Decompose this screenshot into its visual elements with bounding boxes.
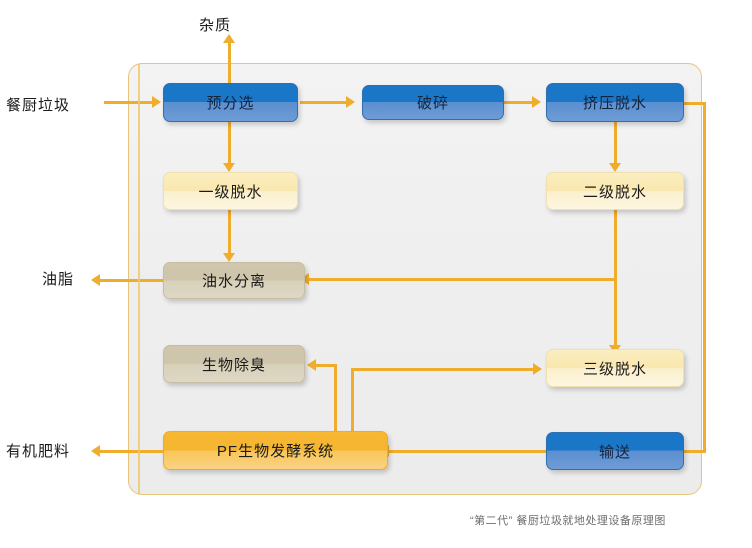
arrowhead-into-squeeze-dewater — [532, 96, 541, 108]
connector-pre-sorting-to-crushing — [300, 101, 348, 104]
arrowhead-into-impurities — [223, 34, 235, 43]
connector-into-conveying-right — [684, 450, 706, 453]
arrowhead-into-tertiary-dewater-left — [533, 363, 542, 375]
connector-pf-fermentation-to-organic-fertilizer — [99, 450, 165, 453]
connector-pf-fermentation-to-tertiary-dewater — [351, 368, 536, 371]
node-pre-sorting-label: 预分选 — [206, 92, 254, 113]
node-pf-fermentation[interactable]: PF生物发酵系统 — [163, 431, 388, 470]
connector-conveying-to-pf-fermentation — [388, 450, 548, 453]
connector-pf-fermentation-to-tertiary-dewater-riser — [351, 368, 354, 432]
arrowhead-into-organic-fertilizer — [91, 445, 100, 457]
node-conveying-label: 输送 — [599, 441, 631, 462]
connector-secondary-dewater-to-oil-water-separate — [308, 278, 616, 281]
node-squeeze-dewater-label: 挤压脱水 — [583, 92, 647, 113]
node-tertiary-dewater-label: 三级脱水 — [583, 358, 647, 379]
connector-kitchen-waste-to-pre-sorting — [104, 101, 154, 104]
node-conveying[interactable]: 输送 — [546, 432, 684, 470]
diagram-canvas: 杂质 餐厨垃圾 油脂 有机肥料 — [0, 0, 752, 548]
node-oil-water-separate[interactable]: 油水分离 — [163, 262, 305, 299]
connector-pre-sorting-to-impurities — [228, 42, 231, 84]
arrowhead-into-secondary-dewater — [609, 163, 621, 172]
node-bio-deodorize[interactable]: 生物除臭 — [163, 345, 305, 383]
arrowhead-into-crushing — [346, 96, 355, 108]
arrowhead-into-oil-water-separate — [223, 253, 235, 262]
arrowhead-into-pre-sorting — [152, 96, 161, 108]
connector-oil-water-separate-to-grease — [99, 279, 165, 282]
connector-left-boundary-bus — [138, 64, 140, 494]
external-label-grease: 油脂 — [42, 268, 74, 289]
external-label-impurities: 杂质 — [199, 14, 231, 35]
external-label-organic-fertilizer: 有机肥料 — [6, 440, 70, 461]
node-tertiary-dewater[interactable]: 三级脱水 — [546, 349, 684, 387]
arrowhead-into-primary-dewater — [223, 163, 235, 172]
node-primary-dewater-label: 一级脱水 — [198, 181, 262, 202]
connector-primary-dewater-to-oil-water-separate — [228, 210, 231, 256]
node-oil-water-separate-label: 油水分离 — [202, 270, 266, 291]
node-bio-deodorize-label: 生物除臭 — [202, 354, 266, 375]
external-label-kitchen-waste: 餐厨垃圾 — [6, 94, 70, 115]
connector-squeeze-dewater-to-secondary-dewater — [614, 122, 617, 166]
connector-right-vertical-bus — [703, 102, 706, 453]
node-primary-dewater[interactable]: 一级脱水 — [163, 172, 298, 210]
node-pre-sorting[interactable]: 预分选 — [163, 83, 298, 122]
arrowhead-into-bio-deodorize — [307, 359, 316, 371]
node-secondary-dewater-label: 二级脱水 — [583, 181, 647, 202]
node-secondary-dewater[interactable]: 二级脱水 — [546, 172, 684, 210]
connector-pf-fermentation-to-bio-deodorize — [316, 364, 337, 367]
connector-pf-fermentation-to-bio-deodorize-riser — [334, 364, 337, 432]
connector-pre-sorting-to-primary-dewater — [228, 122, 231, 166]
node-crushing-label: 破碎 — [417, 92, 449, 113]
node-pf-fermentation-label: PF生物发酵系统 — [217, 440, 334, 461]
node-squeeze-dewater[interactable]: 挤压脱水 — [546, 83, 684, 122]
node-crushing[interactable]: 破碎 — [362, 85, 504, 120]
arrowhead-into-grease — [91, 274, 100, 286]
diagram-caption: “第二代” 餐厨垃圾就地处理设备原理图 — [470, 512, 666, 528]
